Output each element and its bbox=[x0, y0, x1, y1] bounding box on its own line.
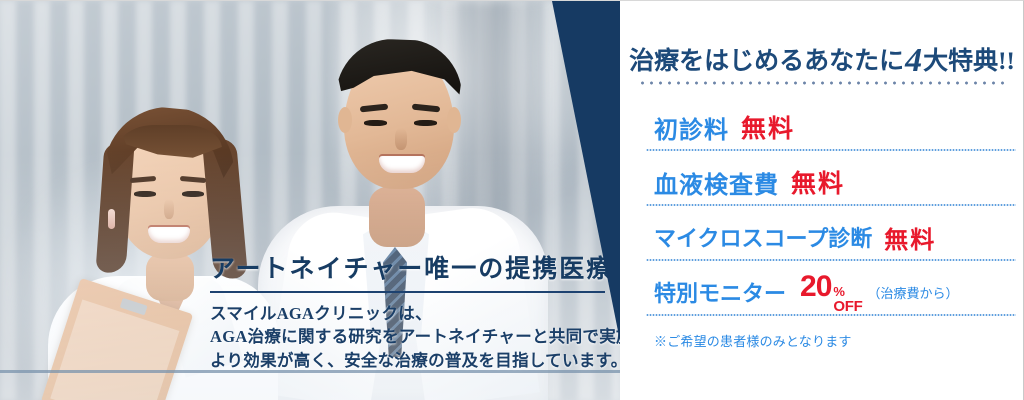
off-label: OFF bbox=[833, 299, 862, 314]
benefits-headline-number: 4 bbox=[904, 42, 923, 79]
benefit-1-value: 無料 bbox=[741, 109, 795, 145]
percent-symbol: % bbox=[833, 285, 845, 298]
left-copy-block: アートネイチャー唯一の提携医療機関 スマイルAGAクリニックは、 AGA治療に関… bbox=[210, 249, 630, 372]
benefit-4-divider bbox=[646, 314, 1016, 316]
promo-banner: アートネイチャー唯一の提携医療機関 スマイルAGAクリニックは、 AGA治療に関… bbox=[0, 0, 1024, 400]
benefit-4-value-group: 20 % OFF （治療費から） bbox=[800, 270, 958, 314]
benefit-3-divider bbox=[646, 259, 1016, 261]
benefit-row-3: マイクロスコープ診断 無料 bbox=[620, 215, 1024, 270]
benefit-1-label: 初診料 bbox=[654, 110, 729, 145]
benefit-row-1: 初診料 無料 bbox=[620, 105, 1024, 160]
benefit-3-value: 無料 bbox=[884, 220, 936, 255]
benefits-panel: 治療をはじめるあなたに4大特典!! 初診料 無料 血液検査費 無料 bbox=[620, 1, 1024, 400]
benefit-4-percent-off: % OFF bbox=[833, 285, 862, 314]
left-description-line-3: より効果が高く、安全な治療の普及を目指しています。 bbox=[210, 349, 630, 372]
left-description: スマイルAGAクリニックは、 AGA治療に関する研究をアートネイチャーと共同で実… bbox=[210, 302, 630, 372]
benefit-row-4: 特別モニター 20 % OFF （治療費から） bbox=[620, 270, 1024, 325]
benefits-headline-post: 大特典!! bbox=[923, 48, 1015, 75]
male-ear-right bbox=[447, 107, 461, 133]
benefit-3-label: マイクロスコープ診断 bbox=[654, 221, 872, 253]
benefit-4-note: （治療費から） bbox=[867, 283, 958, 302]
male-nose bbox=[395, 128, 407, 150]
benefit-2-value: 無料 bbox=[791, 164, 845, 200]
left-description-line-1: スマイルAGAクリニックは、 bbox=[210, 302, 630, 325]
benefit-2-divider bbox=[646, 204, 1016, 206]
left-headline: アートネイチャー唯一の提携医療機関 bbox=[210, 249, 630, 285]
left-divider bbox=[210, 291, 605, 293]
benefits-headline-pre: 治療をはじめるあなたに bbox=[629, 48, 904, 75]
benefits-disclaimer: ※ご希望の患者様のみとなります bbox=[654, 331, 852, 350]
headline-dotted-underline bbox=[638, 81, 1010, 85]
benefit-4-label: 特別モニター bbox=[654, 276, 786, 308]
benefits-headline: 治療をはじめるあなたに4大特典!! bbox=[620, 41, 1024, 80]
male-eye-right bbox=[414, 120, 437, 126]
male-ear-left bbox=[338, 107, 352, 133]
male-eye-left bbox=[364, 120, 387, 126]
benefit-row-2: 血液検査費 無料 bbox=[620, 160, 1024, 215]
benefit-1-divider bbox=[646, 149, 1016, 151]
benefit-4-percent-number: 20 bbox=[800, 270, 831, 304]
benefits-list: 初診料 無料 血液検査費 無料 マイクロスコープ診断 無料 bbox=[620, 105, 1024, 325]
benefit-2-label: 血液検査費 bbox=[654, 165, 779, 200]
left-description-line-2: AGA治療に関する研究をアートネイチャーと共同で実施し、 bbox=[210, 325, 630, 348]
